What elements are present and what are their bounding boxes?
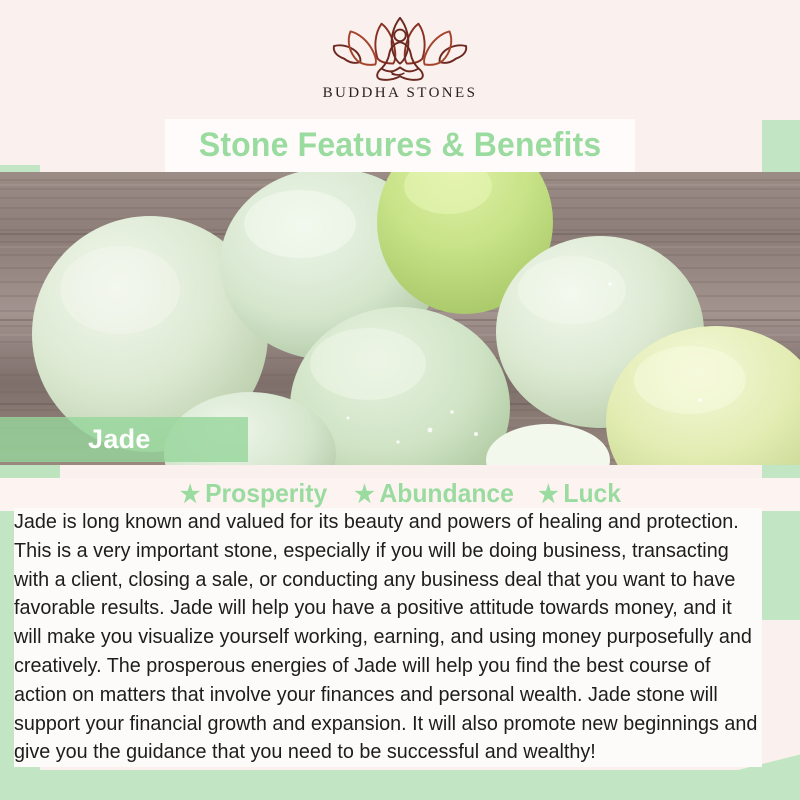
star-icon: ★ <box>180 481 200 508</box>
star-icon: ★ <box>354 481 374 508</box>
infographic-page: BUDDHA STONES Stone Features & Benefits <box>0 0 800 800</box>
keyword-luck: ★Luck <box>539 478 622 509</box>
stone-description: Jade is long known and valued for its be… <box>14 508 762 767</box>
stone-description-text: Jade is long known and valued for its be… <box>14 508 762 767</box>
lotus-meditation-logo-icon <box>325 14 475 82</box>
keyword-label: Prosperity <box>205 478 327 508</box>
decor-green-band-bottom <box>0 770 800 800</box>
section-title-banner: Stone Features & Benefits <box>165 119 635 172</box>
benefit-keywords: ★Prosperity ★Abundance ★Luck <box>0 478 800 511</box>
brand-header: BUDDHA STONES <box>0 0 800 120</box>
keyword-prosperity: ★Prosperity <box>180 478 327 509</box>
stone-name-label: Jade <box>88 424 151 455</box>
keyword-label: Luck <box>564 478 622 508</box>
page-title: Stone Features & Benefits <box>199 126 602 165</box>
brand-name-text: BUDDHA STONES <box>323 85 478 102</box>
star-icon: ★ <box>539 481 559 508</box>
keyword-label: Abundance <box>379 478 513 508</box>
keyword-abundance: ★Abundance <box>354 478 514 509</box>
stone-name-band: Jade <box>0 417 248 462</box>
